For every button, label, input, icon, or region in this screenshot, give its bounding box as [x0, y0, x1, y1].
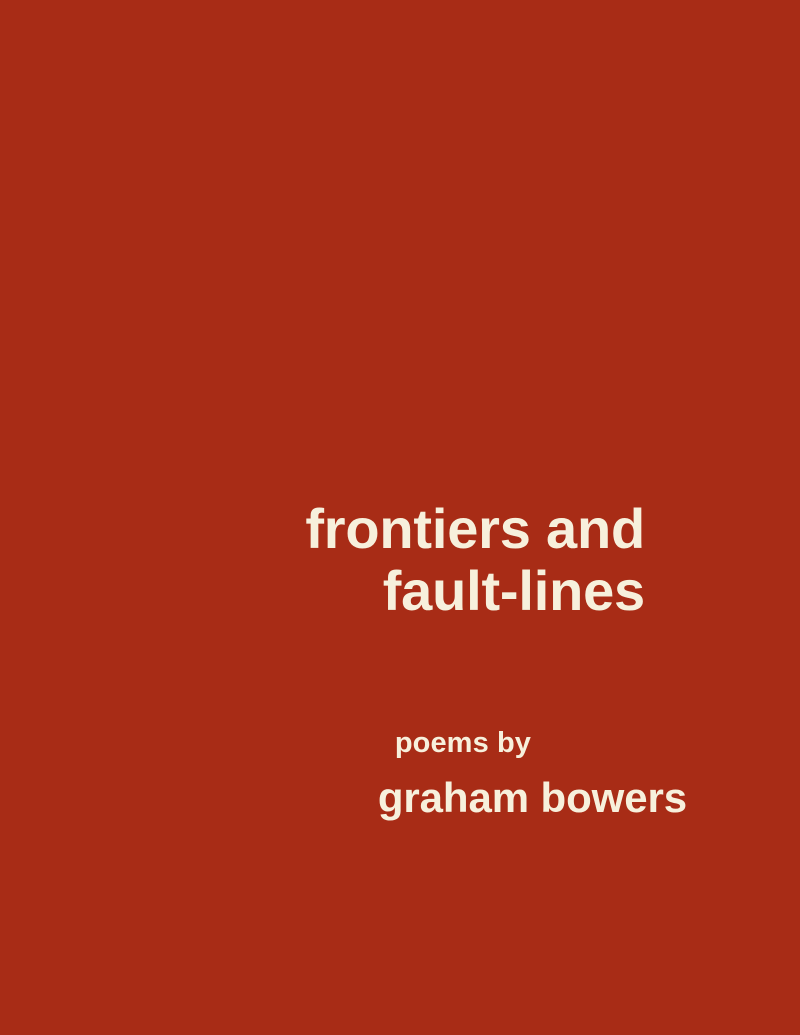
- book-title-line-2: fault-lines: [0, 560, 687, 622]
- author-name: graham bowers: [0, 774, 687, 822]
- byline-group: poems by graham bowers: [0, 726, 687, 822]
- book-cover: frontiers and fault-lines poems by graha…: [0, 0, 800, 1035]
- byline-label: poems by: [0, 726, 687, 760]
- cover-text-block: frontiers and fault-lines poems by graha…: [0, 498, 687, 822]
- book-title-line-1: frontiers and: [0, 498, 687, 560]
- book-title: frontiers and fault-lines: [0, 498, 687, 622]
